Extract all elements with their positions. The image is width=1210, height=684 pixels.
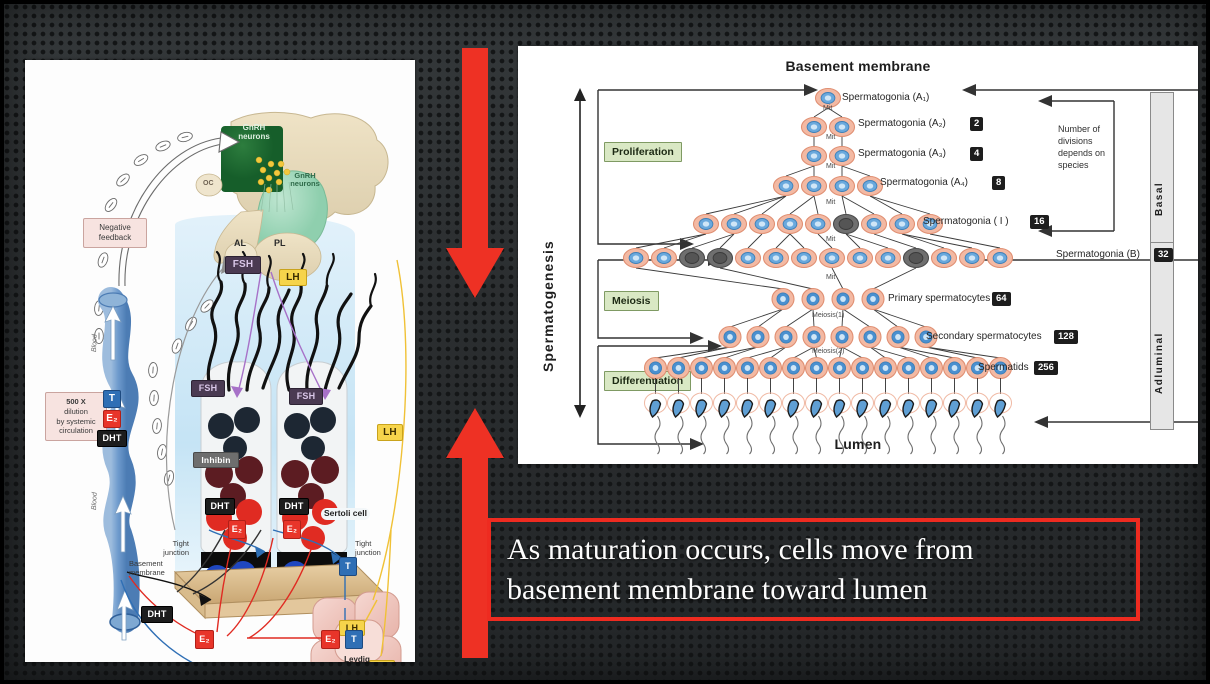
caption-line-1: As maturation occurs, cells move from xyxy=(507,530,1120,570)
e2-tag-sertoli-right: E₂ xyxy=(283,520,301,539)
fsh-tag-right: FSH xyxy=(289,388,323,405)
al-label: AL xyxy=(234,238,246,248)
division-label-mit-3: Mit xyxy=(826,163,835,170)
dht-tag-sertoli-right: DHT xyxy=(279,498,309,515)
count-chip-32: 32 xyxy=(1154,248,1173,262)
blood-label-upper: Blood xyxy=(91,334,100,352)
dilution-line-1: 500 X xyxy=(50,397,102,407)
division-label-mit-1: Mit xyxy=(823,105,832,112)
lh-tag-side: LH xyxy=(377,424,403,441)
count-chip-128: 128 xyxy=(1054,330,1078,344)
division-label-mit-4: Mit xyxy=(826,199,835,206)
t-tag-sertoli: T xyxy=(339,557,357,576)
dilution-line-3: by systemic xyxy=(50,417,102,427)
division-label-mit-2: Mit xyxy=(826,134,835,141)
blood-label-lower: Blood xyxy=(91,492,100,510)
gnrh-neurons-label-1: GnRH neurons xyxy=(231,124,277,142)
caption-box: As maturation occurs, cells move from ba… xyxy=(487,518,1140,621)
pl-label: PL xyxy=(274,238,286,248)
count-chip-16: 16 xyxy=(1030,215,1049,229)
oc-label: OC xyxy=(203,180,214,188)
row-label-spermatogonia-a1: Spermatogonia (A₁) xyxy=(842,92,929,103)
slide-root: GnRH neurons GnRH neurons OC AL PL Negat… xyxy=(0,0,1210,684)
row-label-spermatogonia-a4: Spermatogonia (A₄) xyxy=(880,177,968,188)
gnrh-neurons-label-2: GnRH neurons xyxy=(283,172,327,189)
dilution-line-2: dilution xyxy=(50,407,102,417)
division-label-mit-5: Mit xyxy=(826,236,835,243)
caption-line-2: basement membrane toward lumen xyxy=(507,570,1120,610)
row-label-spermatids: Spermatids xyxy=(978,362,1029,373)
fsh-tag-left: FSH xyxy=(191,380,225,397)
dht-tag-blood: DHT xyxy=(97,430,127,447)
tight-junction-label-left: Tight junction xyxy=(149,540,189,557)
left-figure-hpt-axis: GnRH neurons GnRH neurons OC AL PL Negat… xyxy=(25,60,415,662)
negative-feedback-box: Negative feedback xyxy=(83,218,147,248)
leydig-cells-label: Leydig cells xyxy=(337,656,377,662)
division-label-meiosis-1: Meiosis(1) xyxy=(812,312,844,319)
division-label-mit-6: Mit xyxy=(826,274,835,281)
negative-feedback-label: Negative feedback xyxy=(99,223,131,242)
t-tag-leydig-upper: T xyxy=(345,630,363,649)
row-label-spermatogonia-b: Spermatogonia (B) xyxy=(1056,249,1140,260)
dht-tag-sertoli-left: DHT xyxy=(205,498,235,515)
count-chip-8: 8 xyxy=(992,176,1005,190)
count-chip-64: 64 xyxy=(992,292,1011,306)
basement-membrane-label: Basement membrane xyxy=(129,560,177,577)
lh-tag-pituitary: LH xyxy=(279,269,307,286)
count-chip-2: 2 xyxy=(970,117,983,131)
e2-tag-leydig: E₂ xyxy=(321,630,340,649)
tight-junction-label-right: Tight junction xyxy=(355,540,399,557)
dht-tag-outflow: DHT xyxy=(141,606,173,623)
sertoli-cell-label: Sertoli cell xyxy=(321,508,370,520)
row-label-spermatogonia-a2: Spermatogonia (A₂) xyxy=(858,118,946,129)
spermatogenesis-diagram-panel: Basement membrane Lumen Spermatogenesis xyxy=(518,46,1198,464)
count-chip-4: 4 xyxy=(970,147,983,161)
division-label-meiosis-2: Meiosis(2) xyxy=(812,348,844,355)
count-chip-256: 256 xyxy=(1034,361,1058,375)
red-arrow-down-icon xyxy=(444,48,506,300)
row-label-spermatogonia-i: Spermatogonia ( I ) xyxy=(923,216,1009,227)
inhibin-tag: Inhibin xyxy=(193,452,239,468)
row-label-spermatogonia-a3: Spermatogonia (A₃) xyxy=(858,148,946,159)
e2-tag-sertoli-left: E₂ xyxy=(228,520,246,539)
e2-tag-outflow: E₂ xyxy=(195,630,214,649)
e2-tag-blood: E₂ xyxy=(103,410,121,428)
row-label-secondary-spermatocytes: Secondary spermatocytes xyxy=(926,331,1042,342)
fsh-tag-pituitary: FSH xyxy=(225,256,261,274)
row-label-primary-spermatocytes: Primary spermatocytes xyxy=(888,293,990,304)
t-tag-blood: T xyxy=(103,390,121,408)
dilution-line-4: circulation xyxy=(50,426,102,436)
